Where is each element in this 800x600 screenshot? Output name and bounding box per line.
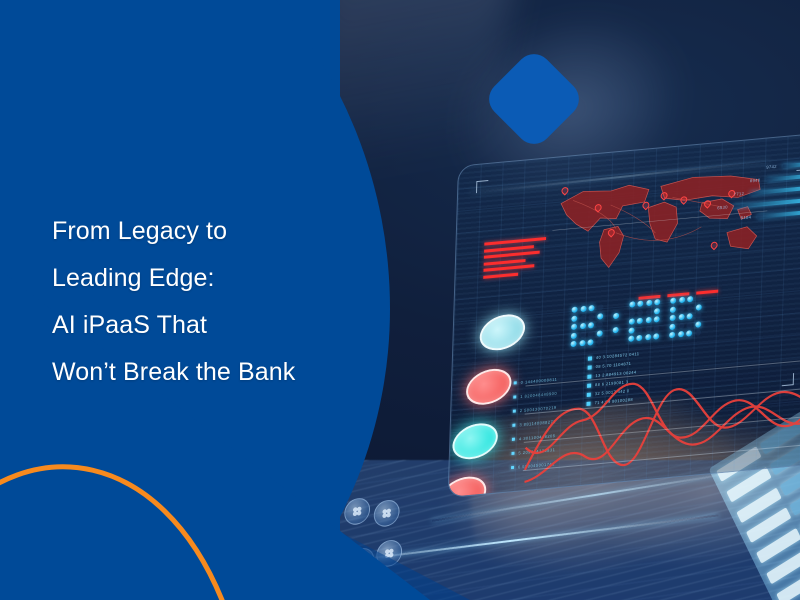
cyan-bar-label: 8940 xyxy=(750,177,761,183)
cyan-bar-label: 5184 xyxy=(741,214,752,220)
slide-canvas: 9742 8940 7712 6530 5184 xyxy=(0,0,800,600)
cyan-bar-label: 6530 xyxy=(717,204,728,210)
coin-icon xyxy=(373,498,400,528)
matrix-glyph-colon xyxy=(612,303,620,345)
cyan-bar xyxy=(734,197,800,209)
headline-line-2: Leading Edge: xyxy=(52,255,392,302)
matrix-glyph-2 xyxy=(628,299,662,343)
red-bar-chart xyxy=(483,235,564,282)
headline-line-3: AI iPaaS That xyxy=(52,302,392,349)
red-bar xyxy=(484,258,526,265)
matrix-glyph-b xyxy=(570,304,604,348)
cyan-bar-chart: 9742 8940 7712 6530 5184 xyxy=(687,160,800,232)
corner-bracket-icon xyxy=(476,180,488,193)
red-bar xyxy=(484,251,540,259)
cyan-bar xyxy=(757,209,800,218)
cyan-bar xyxy=(766,173,800,182)
hud-dashboard-panel: 9742 8940 7712 6530 5184 xyxy=(448,132,800,498)
headline-line-1: From Legacy to xyxy=(52,208,392,255)
matrix-glyph-b xyxy=(669,295,703,339)
red-bar xyxy=(483,264,534,272)
cyan-bar xyxy=(750,185,800,195)
headline-line-4: Won’t Break the Bank xyxy=(52,349,392,396)
cyan-bar-label: 7712 xyxy=(734,191,745,197)
red-bar xyxy=(483,272,518,278)
cyan-bar-label: 9742 xyxy=(766,164,777,170)
page-title: From Legacy to Leading Edge: AI iPaaS Th… xyxy=(52,208,392,396)
